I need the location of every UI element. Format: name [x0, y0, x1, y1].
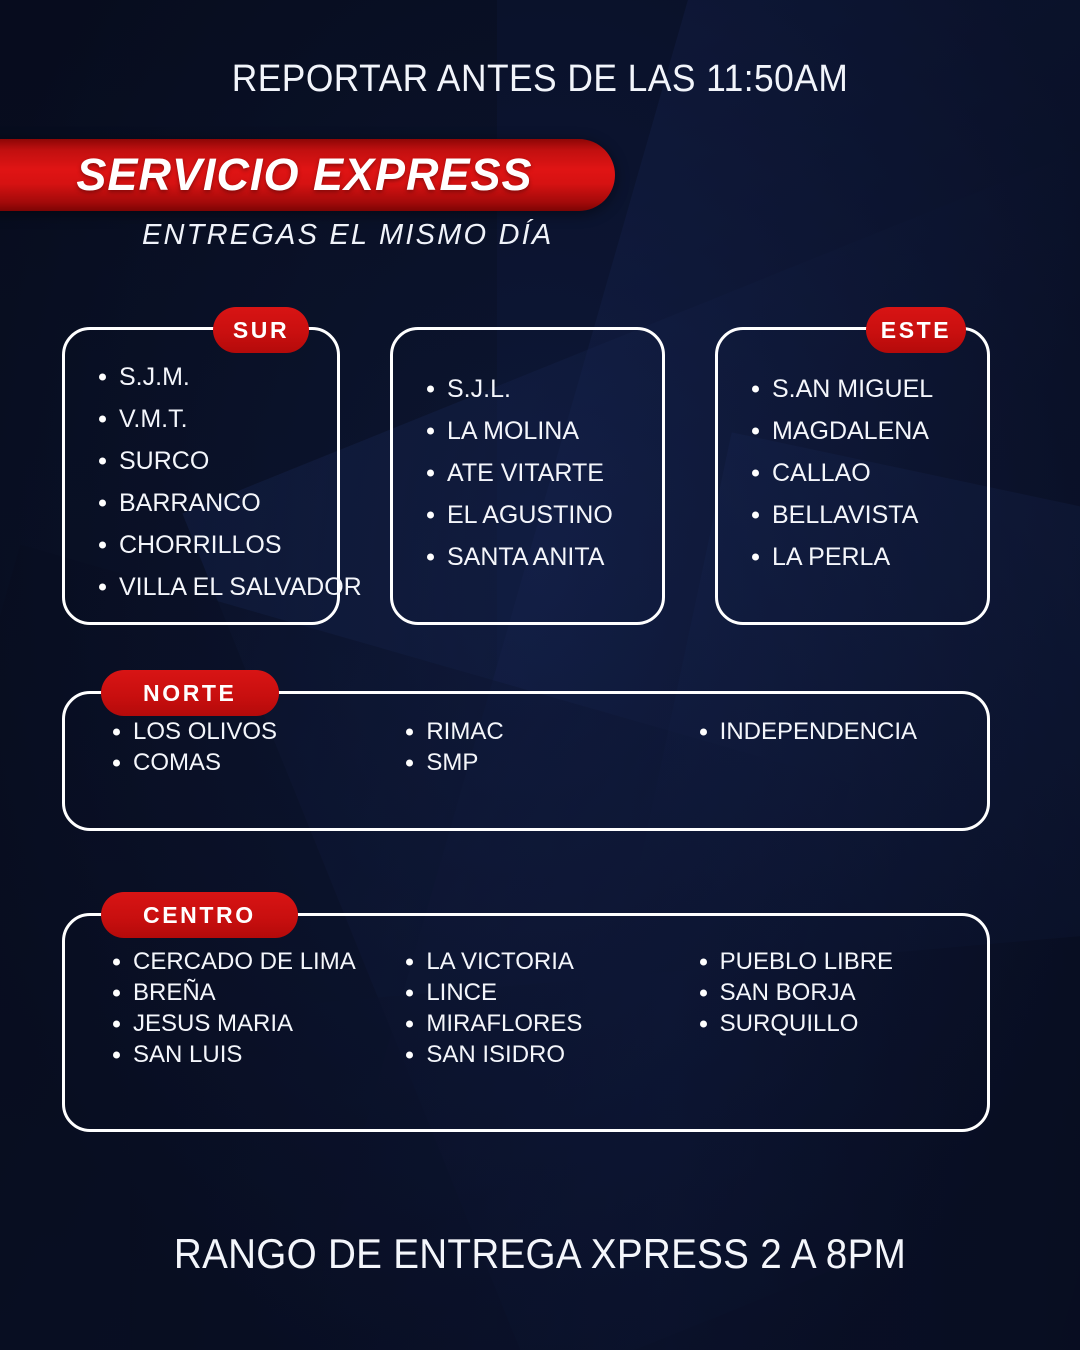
list-item: CERCADO DE LIMA [107, 946, 400, 977]
list-item: PUEBLO LIBRE [694, 946, 987, 977]
list-item: V.M.T. [93, 398, 337, 440]
list-item: BARRANCO [93, 482, 337, 524]
list-item: ATE VITARTE [421, 452, 662, 494]
list-item: S.J.M. [93, 356, 337, 398]
list-item: VILLA EL SALVADOR [93, 566, 337, 608]
list-item: SMP [400, 747, 693, 778]
list-item: CALLAO [746, 452, 987, 494]
zone-list-sur: S.J.M. V.M.T. SURCO BARRANCO CHORRILLOS … [93, 356, 337, 608]
zone-card-centro: CENTRO CERCADO DE LIMA BREÑA JESUS MARIA… [62, 913, 990, 1132]
list-item: CHORRILLOS [93, 524, 337, 566]
list-item: S.AN MIGUEL [746, 368, 987, 410]
zone-columns-centro: CERCADO DE LIMA BREÑA JESUS MARIA SAN LU… [65, 916, 987, 1070]
zone-badge-sur: SUR [213, 307, 309, 353]
zone-column: PUEBLO LIBRE SAN BORJA SURQUILLO [694, 946, 987, 1070]
zone-badge-norte: NORTE [101, 670, 279, 716]
list-item: SURCO [93, 440, 337, 482]
zone-column: CERCADO DE LIMA BREÑA JESUS MARIA SAN LU… [107, 946, 400, 1070]
list-item: SANTA ANITA [421, 536, 662, 578]
list-item: BREÑA [107, 977, 400, 1008]
zone-card-oeste: OESTE S.AN MIGUEL MAGDALENA CALLAO BELLA… [715, 327, 990, 625]
list-item: MIRAFLORES [400, 1008, 693, 1039]
zone-list-este: S.J.L. LA MOLINA ATE VITARTE EL AGUSTINO… [421, 368, 662, 578]
zone-badge-este: ESTE [866, 307, 966, 353]
zone-column: RIMAC SMP [400, 716, 693, 778]
zone-card-este: ESTE S.J.L. LA MOLINA ATE VITARTE EL AGU… [390, 327, 665, 625]
list-item: SAN BORJA [694, 977, 987, 1008]
zone-list-oeste: S.AN MIGUEL MAGDALENA CALLAO BELLAVISTA … [746, 368, 987, 578]
list-item: SAN LUIS [107, 1039, 400, 1070]
banner-subtitle: ENTREGAS EL MISMO DÍA [142, 219, 553, 252]
list-item: LINCE [400, 977, 693, 1008]
list-item: BELLAVISTA [746, 494, 987, 536]
list-item: SURQUILLO [694, 1008, 987, 1039]
zone-card-sur: SUR S.J.M. V.M.T. SURCO BARRANCO CHORRIL… [62, 327, 340, 625]
list-item: LOS OLIVOS [107, 716, 400, 747]
list-item: INDEPENDENCIA [694, 716, 987, 747]
list-item: MAGDALENA [746, 410, 987, 452]
banner-title: SERVICIO EXPRESS [0, 149, 615, 201]
list-item: LA VICTORIA [400, 946, 693, 977]
notice-headline: REPORTAR ANTES DE LAS 11:50AM [38, 58, 1042, 101]
list-item: S.J.L. [421, 368, 662, 410]
list-item: SAN ISIDRO [400, 1039, 693, 1070]
delivery-range-footer: RANGO DE ENTREGA XPRESS 2 A 8PM [43, 1230, 1037, 1278]
list-item: RIMAC [400, 716, 693, 747]
list-item: COMAS [107, 747, 400, 778]
list-item: EL AGUSTINO [421, 494, 662, 536]
zone-column: INDEPENDENCIA [694, 716, 987, 778]
list-item: JESUS MARIA [107, 1008, 400, 1039]
list-item: LA MOLINA [421, 410, 662, 452]
zone-column: LA VICTORIA LINCE MIRAFLORES SAN ISIDRO [400, 946, 693, 1070]
zone-badge-centro: CENTRO [101, 892, 298, 938]
zone-card-norte: NORTE LOS OLIVOS COMAS RIMAC SMP INDEPEN… [62, 691, 990, 831]
servicio-express-banner: SERVICIO EXPRESS [0, 139, 615, 211]
zone-column: LOS OLIVOS COMAS [107, 716, 400, 778]
list-item: LA PERLA [746, 536, 987, 578]
